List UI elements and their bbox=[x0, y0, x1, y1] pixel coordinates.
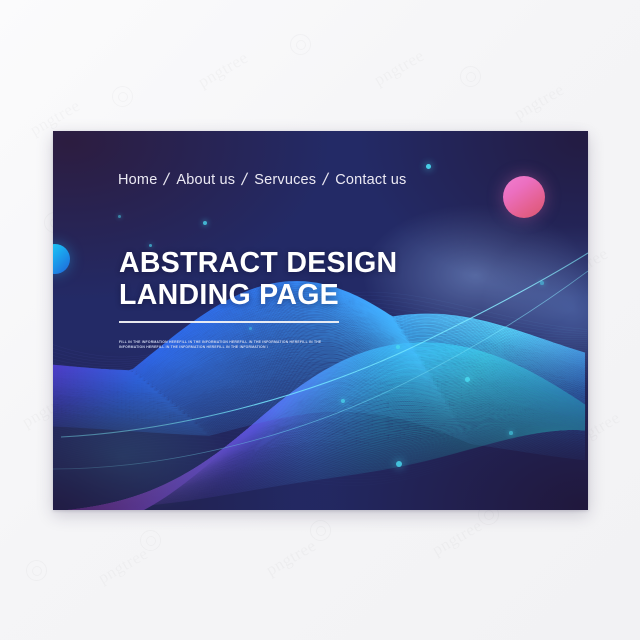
nav-item-home[interactable]: Home bbox=[118, 172, 157, 188]
page-title-line-2: LANDING PAGE bbox=[119, 279, 397, 311]
copyright-circle-icon bbox=[290, 34, 311, 55]
particle-dot bbox=[203, 221, 207, 225]
page-title-line-1: ABSTRACT DESIGN bbox=[119, 247, 397, 279]
nav-item-servuces[interactable]: Servuces bbox=[254, 172, 316, 188]
copyright-circle-icon bbox=[26, 560, 47, 581]
nav-separator: / bbox=[162, 170, 171, 190]
page-title: ABSTRACT DESIGN LANDING PAGE bbox=[119, 247, 397, 311]
landing-page-banner: Home/About us/Servuces/Contact us ABSTRA… bbox=[53, 131, 588, 510]
title-underline-rule bbox=[119, 321, 339, 323]
particle-dot bbox=[465, 377, 470, 382]
copyright-circle-icon bbox=[112, 86, 133, 107]
copyright-circle-icon bbox=[460, 66, 481, 87]
particle-dot bbox=[396, 461, 402, 467]
nav-item-contact-us[interactable]: Contact us bbox=[335, 172, 406, 188]
copyright-circle-icon bbox=[140, 530, 161, 551]
pink-circle-decoration bbox=[503, 176, 545, 218]
particle-dot bbox=[341, 399, 345, 403]
particle-dot bbox=[118, 215, 121, 218]
nav-item-about-us[interactable]: About us bbox=[176, 172, 235, 188]
main-navigation[interactable]: Home/About us/Servuces/Contact us bbox=[118, 170, 407, 190]
particle-dot bbox=[540, 281, 544, 285]
particle-dot bbox=[426, 164, 431, 169]
particle-dot bbox=[509, 431, 513, 435]
body-copy: FILL IN THE INFORMATION HEREFILL IN THE … bbox=[119, 340, 329, 349]
copyright-circle-icon bbox=[310, 520, 331, 541]
nav-separator: / bbox=[240, 170, 249, 190]
nav-separator: / bbox=[321, 170, 330, 190]
